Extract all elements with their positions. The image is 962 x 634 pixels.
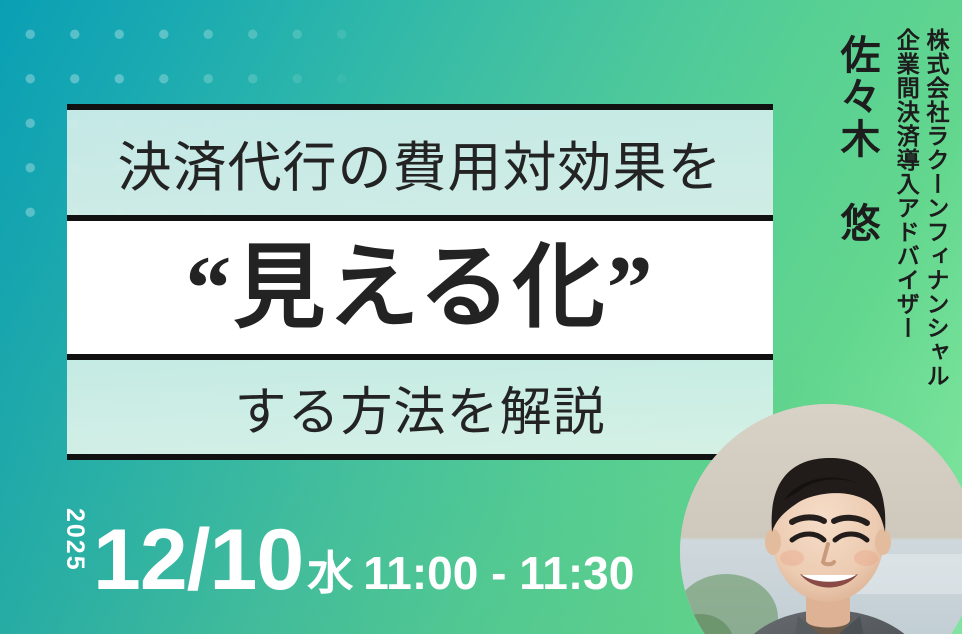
date-time-range: 11:00 - 11:30 xyxy=(363,550,634,596)
title-line-3-band: する方法を解説 xyxy=(67,360,773,454)
date-day-month: 12/10 xyxy=(93,524,303,598)
speaker-info: 佐々木 悠 企業間決済導入アドバイザー 株式会社ラクーンフィナンシャル xyxy=(834,22,948,388)
title-line-2-text: 見える化 xyxy=(233,242,606,334)
title-line-3-text: する方法を解説 xyxy=(234,370,605,445)
date-year: 2025 xyxy=(62,508,87,590)
title-line-1-band: 決済代行の費用対効果を xyxy=(67,110,773,215)
close-quote-glyph: ” xyxy=(607,242,655,334)
open-quote-glyph: “ xyxy=(185,242,233,334)
title-block: 決済代行の費用対効果を “見える化” する方法を解説 xyxy=(67,104,773,459)
webinar-banner: 決済代行の費用対効果を “見える化” する方法を解説 2025 12/10 水 … xyxy=(0,0,962,634)
speaker-name: 佐々木 悠 xyxy=(834,34,879,244)
speaker-company: 株式会社ラクーンフィナンシャル xyxy=(922,28,948,388)
title-rule-bottom xyxy=(67,454,773,460)
speaker-role: 企業間決済導入アドバイザー xyxy=(893,28,919,340)
title-line-1-text: 決済代行の費用対効果を xyxy=(118,123,723,202)
date-weekday: 水 xyxy=(307,550,353,596)
title-line-2-band: “見える化” xyxy=(67,221,773,354)
date-time-row: 2025 12/10 水 11:00 - 11:30 xyxy=(62,508,634,598)
